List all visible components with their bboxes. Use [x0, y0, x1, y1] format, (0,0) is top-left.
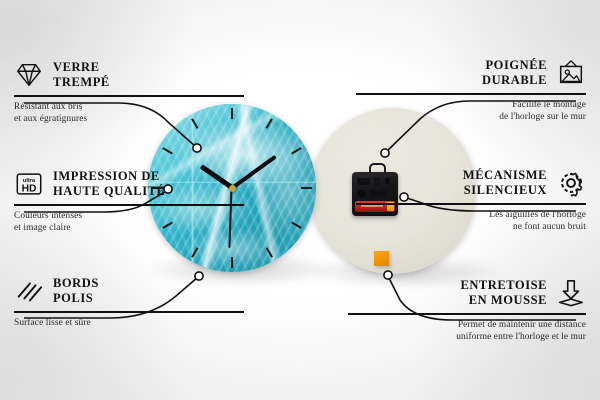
feature-divider: [14, 95, 244, 97]
feature-title: MÉCANISME SILENCIEUX: [463, 168, 547, 198]
feature-description: Les aiguilles de l'horloge ne font aucun…: [356, 209, 586, 234]
feature-entretoise-en-mousse[interactable]: ENTRETOISE EN MOUSSE Permet de maintenir…: [348, 276, 586, 344]
svg-text:HD: HD: [22, 184, 37, 195]
infographic-canvas: VERRE TREMPÉ Résistant aux bris et aux é…: [0, 0, 600, 400]
feature-header: BORDS POLIS: [14, 274, 244, 308]
feature-title: VERRE TREMPÉ: [53, 60, 110, 90]
polished-edges-icon: [14, 276, 44, 306]
feature-verre-trempe[interactable]: VERRE TREMPÉ Résistant aux bris et aux é…: [14, 58, 244, 126]
diamond-icon: [14, 60, 44, 90]
feature-title: ENTRETOISE EN MOUSSE: [460, 278, 547, 308]
feature-description: Résistant aux bris et aux égratignures: [14, 101, 244, 126]
feature-divider: [14, 311, 244, 313]
feature-description: Couleurs intenses et image claire: [14, 210, 244, 235]
feature-header: VERRE TREMPÉ: [14, 58, 244, 92]
feature-title: BORDS POLIS: [53, 276, 99, 306]
wall-hanger-frame-icon: [556, 58, 586, 88]
feature-title: POIGNÉE DURABLE: [482, 58, 547, 88]
gear-icon: [556, 168, 586, 198]
feature-header: POIGNÉE DURABLE: [356, 56, 586, 90]
feature-poignee-durable[interactable]: POIGNÉE DURABLE Facilite le montage de l…: [356, 56, 586, 124]
connector-dot-verre-trempe: [193, 144, 201, 152]
feature-description: Facilite le montage de l'horloge sur le …: [356, 99, 586, 124]
ultra-hd-badge-icon: ultra HD: [14, 169, 44, 199]
feature-title: IMPRESSION DE HAUTE QUALITÉ: [53, 169, 165, 199]
feature-header: MÉCANISME SILENCIEUX: [356, 166, 586, 200]
feature-header: ultra HD IMPRESSION DE HAUTE QUALITÉ: [14, 167, 244, 201]
feature-divider: [14, 204, 244, 206]
feature-divider: [348, 313, 586, 315]
feature-divider: [356, 203, 586, 205]
connector-dot-poignee: [381, 149, 389, 157]
feature-mecanisme-silencieux[interactable]: MÉCANISME SILENCIEUX Les aiguilles de l'…: [356, 166, 586, 234]
feature-impression-haute-qualite[interactable]: ultra HD IMPRESSION DE HAUTE QUALITÉ Cou…: [14, 167, 244, 235]
feature-description: Surface lisse et sûre: [14, 317, 244, 330]
feature-divider: [356, 93, 586, 95]
feature-bords-polis[interactable]: BORDS POLIS Surface lisse et sûre: [14, 274, 244, 329]
foam-spacer-arrow-icon: [556, 278, 586, 308]
feature-header: ENTRETOISE EN MOUSSE: [348, 276, 586, 310]
feature-description: Permet de maintenir une distance uniform…: [348, 319, 586, 344]
